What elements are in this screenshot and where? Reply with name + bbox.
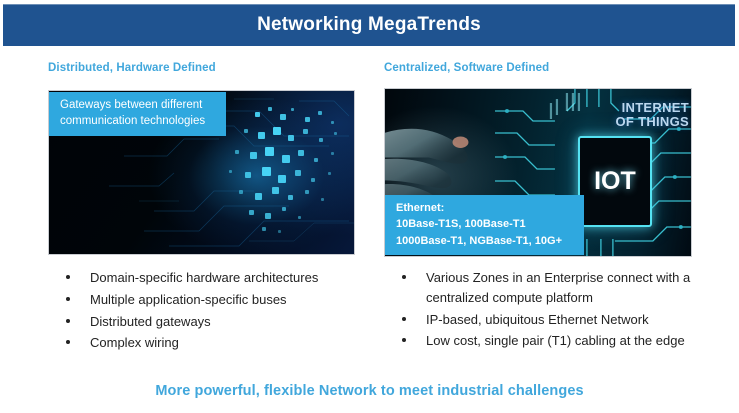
right-column-subtitle: Centralized, Software Defined (384, 62, 549, 74)
list-item-label: Domain-specific hardware architectures (90, 270, 318, 285)
list-item: Distributed gateways (60, 312, 360, 332)
bullet-dot-icon (66, 340, 70, 344)
iot-chip: IOT (578, 136, 652, 227)
left-column-subtitle: Distributed, Hardware Defined (48, 62, 216, 74)
left-column-bullet-list: Domain-specific hardware architectures M… (60, 268, 360, 355)
list-item: Various Zones in an Enterprise connect w… (396, 268, 696, 308)
overlay-word-line: OF THINGS (542, 115, 689, 130)
list-item: Multiple application-specific buses (60, 290, 360, 310)
caption-line: Ethernet: (396, 200, 574, 216)
list-item: Domain-specific hardware architectures (60, 268, 360, 288)
list-item-label: Multiple application-specific buses (90, 292, 287, 307)
slide-title-bar: Networking MegaTrends (3, 4, 735, 46)
right-image-caption: Ethernet: 10Base-T1S, 100Base-T1 1000Bas… (385, 195, 584, 255)
list-item-label: Distributed gateways (90, 314, 211, 329)
chip-label: IOT (594, 167, 636, 196)
bullet-dot-icon (402, 338, 406, 342)
list-item: Complex wiring (60, 333, 360, 353)
list-item-label: IP-based, ubiquitous Ethernet Network (426, 312, 649, 327)
bullet-dot-icon (66, 297, 70, 301)
right-column-image: IOT INTERNET OF THINGS Ethernet: 10Base-… (384, 88, 692, 257)
caption-line: 1000Base-T1, NGBase-T1, 10G+ (396, 233, 574, 249)
bullet-dot-icon (66, 319, 70, 323)
caption-line: Gateways between different (60, 97, 216, 113)
bullet-dot-icon (402, 317, 406, 321)
page-title: Networking MegaTrends (257, 14, 481, 36)
bullet-dot-icon (66, 275, 70, 279)
left-column-image: Gateways between different communication… (48, 90, 355, 255)
internet-of-things-overlay-text: INTERNET OF THINGS (542, 101, 689, 130)
left-image-caption: Gateways between different communication… (49, 92, 226, 136)
right-column-bullet-list: Various Zones in an Enterprise connect w… (396, 268, 696, 353)
caption-line: communication technologies (60, 113, 216, 129)
footer-tagline: More powerful, flexible Network to meet … (0, 383, 739, 399)
list-item-label: Complex wiring (90, 335, 179, 350)
list-item: IP-based, ubiquitous Ethernet Network (396, 310, 696, 330)
bullet-dot-icon (402, 275, 406, 279)
list-item-label: Various Zones in an Enterprise connect w… (426, 270, 690, 305)
list-item-label: Low cost, single pair (T1) cabling at th… (426, 333, 685, 348)
caption-line: 10Base-T1S, 100Base-T1 (396, 216, 574, 232)
list-item: Low cost, single pair (T1) cabling at th… (396, 331, 696, 351)
